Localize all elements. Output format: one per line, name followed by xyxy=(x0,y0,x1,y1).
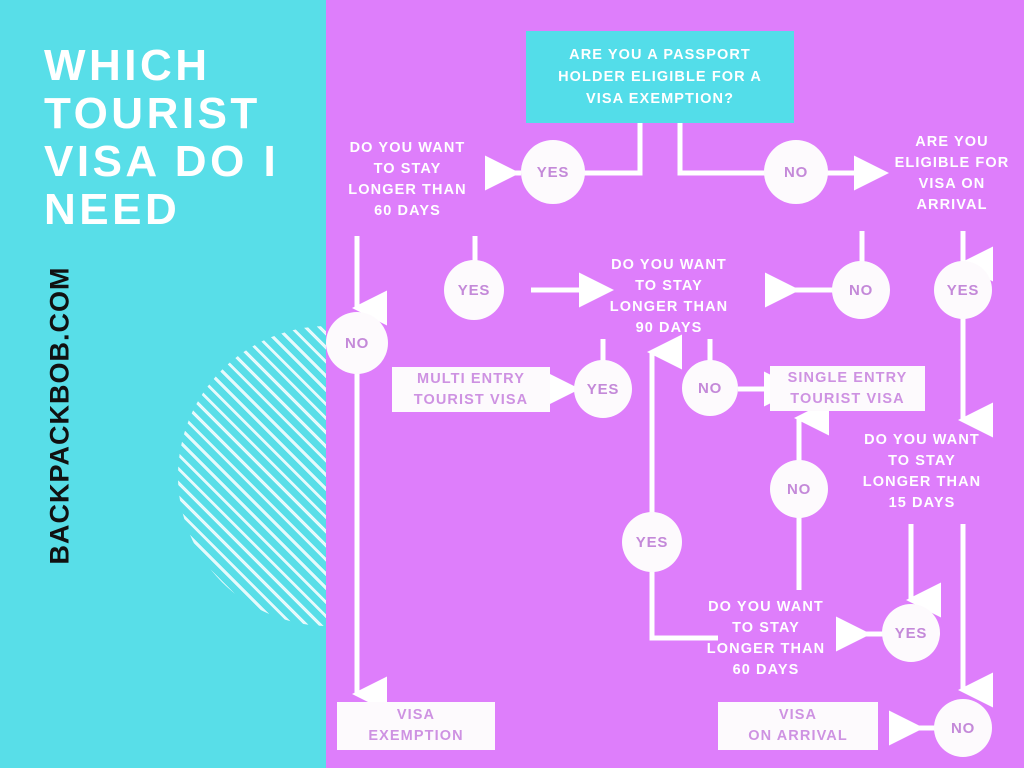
decision-voa-eligible-yes[interactable]: YES xyxy=(934,261,992,319)
decision-90-days-no[interactable]: NO xyxy=(682,360,738,416)
question-15-days: DO YOU WANT TO STAY LONGER THAN 15 DAYS xyxy=(831,430,1013,514)
decision-60-days-left-yes[interactable]: YES xyxy=(444,260,504,320)
flowchart-panel: ARE YOU A PASSPORT HOLDER ELIGIBLE FOR A… xyxy=(326,0,1024,768)
question-60-days-left: DO YOU WANT TO STAY LONGER THAN 60 DAYS xyxy=(326,138,510,222)
infographic-canvas: WHICH TOURIST VISA DO I NEED BACKPACKBOB… xyxy=(0,0,1024,768)
edge-start-to-no xyxy=(680,122,768,173)
result-visa-on-arrival[interactable]: VISA ON ARRIVAL xyxy=(718,702,878,750)
edge-start-to-yes xyxy=(579,122,640,173)
result-visa-exemption[interactable]: VISA EXEMPTION xyxy=(337,702,495,750)
site-url-label: BACKPACKBOB.COM xyxy=(45,216,76,616)
question-visa-on-arrival-eligible: ARE YOU ELIGIBLE FOR VISA ON ARRIVAL xyxy=(862,132,1024,216)
decision-15-days-yes[interactable]: YES xyxy=(882,604,940,662)
question-box-passport-exemption[interactable]: ARE YOU A PASSPORT HOLDER ELIGIBLE FOR A… xyxy=(526,31,794,123)
question-60-days-right: DO YOU WANT TO STAY LONGER THAN 60 DAYS xyxy=(670,597,862,681)
decision-start-no[interactable]: NO xyxy=(764,140,828,204)
striped-circle-decoration xyxy=(178,326,326,626)
result-single-entry-tourist-visa[interactable]: SINGLE ENTRY TOURIST VISA xyxy=(770,366,925,411)
decision-15-days-no[interactable]: NO xyxy=(770,460,828,518)
decision-90-days-yes[interactable]: YES xyxy=(574,360,632,418)
page-title: WHICH TOURIST VISA DO I NEED xyxy=(44,42,316,234)
left-title-panel: WHICH TOURIST VISA DO I NEED BACKPACKBOB… xyxy=(0,0,326,768)
result-multi-entry-tourist-visa[interactable]: MULTI ENTRY TOURIST VISA xyxy=(392,367,550,412)
question-90-days: DO YOU WANT TO STAY LONGER THAN 90 DAYS xyxy=(579,255,759,339)
decision-start-yes[interactable]: YES xyxy=(521,140,585,204)
decision-60-days-right-no[interactable]: NO xyxy=(934,699,992,757)
decision-60-days-left-no[interactable]: NO xyxy=(326,312,388,374)
decision-voa-eligible-no[interactable]: NO xyxy=(832,261,890,319)
decision-60-days-right-yes[interactable]: YES xyxy=(622,512,682,572)
